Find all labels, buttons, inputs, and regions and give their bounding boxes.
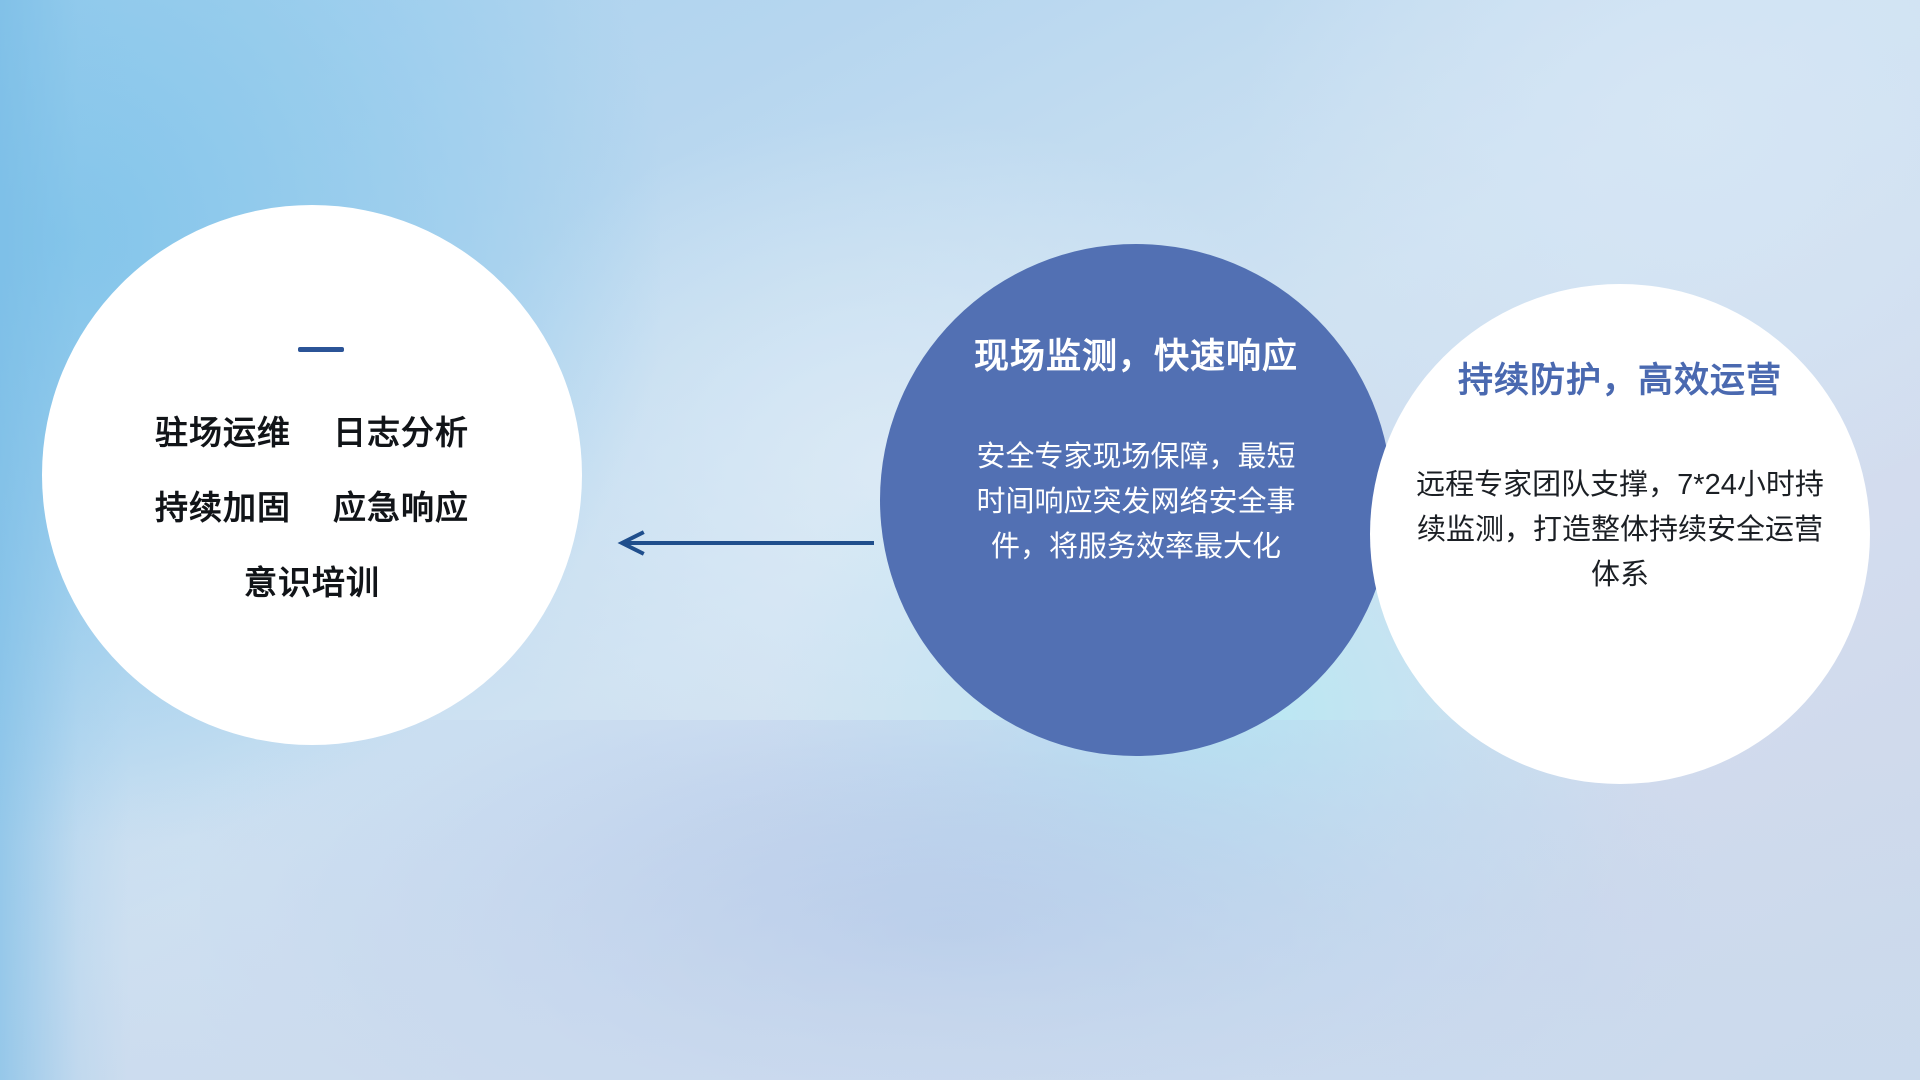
left-capability-circle: 驻场运维 日志分析 持续加固 应急响应 意识培训 [42,205,582,745]
capability-row: 驻场运维 日志分析 [155,406,469,454]
arrow-left-icon [612,530,874,556]
capability-tag: 持续加固 [155,481,291,529]
capability-tag: 意识培训 [244,556,380,604]
capability-tag-list: 驻场运维 日志分析 持续加固 应急响应 意识培训 [155,406,469,604]
middle-circle-title: 现场监测，快速响应 [974,328,1298,379]
capability-tag: 应急响应 [333,481,469,529]
right-operations-circle: 持续防护，高效运营 远程专家团队支撑，7*24小时持续监测，打造整体持续安全运营… [1370,284,1870,784]
capability-tag: 日志分析 [333,406,469,454]
right-circle-body: 远程专家团队支撑，7*24小时持续监测，打造整体持续安全运营体系 [1405,463,1835,598]
capability-row: 意识培训 [244,556,380,604]
right-circle-title: 持续防护，高效运营 [1458,352,1782,403]
diagram-stage: 驻场运维 日志分析 持续加固 应急响应 意识培训 现场监测，快速响应 安全专家现… [0,0,1920,1080]
middle-onsite-circle: 现场监测，快速响应 安全专家现场保障，最短时间响应突发网络安全事件，将服务效率最… [880,244,1392,756]
middle-circle-body: 安全专家现场保障，最短时间响应突发网络安全事件，将服务效率最大化 [971,435,1301,570]
divider-dash [298,347,344,352]
capability-row: 持续加固 应急响应 [155,481,469,529]
capability-tag: 驻场运维 [155,406,291,454]
